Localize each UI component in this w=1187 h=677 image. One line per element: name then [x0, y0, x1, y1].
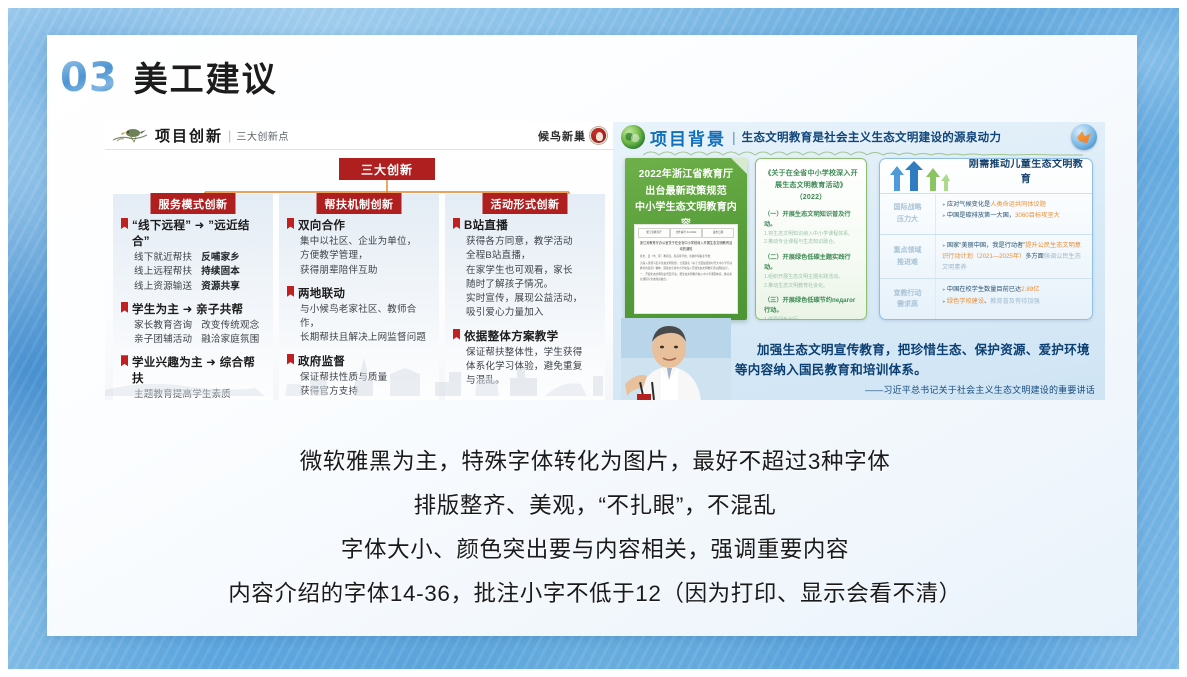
group-head: 学生为主 ➜ 亲子共帮: [121, 301, 265, 317]
line-right: 改变传统观念: [201, 319, 259, 333]
group-head-text: “线下远程” ➜ ”远近结合”: [132, 217, 265, 249]
group-head-text: 学生为主 ➜ 亲子共帮: [132, 301, 243, 317]
doc-tab: 发布日期: [702, 228, 734, 238]
group-lines: 家长教育咨询改变传统观念 亲子团辅活动融洽家庭氛围: [121, 319, 265, 348]
line: 全程B站直播，: [466, 249, 597, 263]
row-label-line: 需求高: [897, 299, 918, 311]
leaf-wave-divider: [643, 149, 1083, 157]
green-card-text: 2022年浙江省教育厅 出台最新政策规范 中小学生态文明教育内容: [625, 158, 747, 233]
doc-tab: 浙江省教育厅: [638, 228, 670, 238]
doc-tab: 文件编号 ZJ-2022: [670, 228, 702, 238]
group: “线下远程” ➜ ”远近结合” 线下就近帮扶反哺家乡 线上远程帮扶持续固本 线上…: [121, 217, 265, 294]
note-line: 字体大小、颜色突出要与内容相关，强调重要内容: [70, 528, 1120, 572]
section-line: 1.倡导绿色出行。: [764, 316, 858, 320]
row-label-line: 压力大: [897, 214, 918, 226]
blue-card-title: 刚需推动儿童生态文明教育: [968, 158, 1084, 191]
section-head: （一）开展生态文明知识普及行动。: [764, 210, 858, 230]
row-label: 国际战略 压力大: [880, 194, 936, 234]
note-line: 排版整齐、美观，“不扎眼”，不混乱: [70, 484, 1120, 528]
line-left: 线上资源输送: [134, 280, 192, 294]
left-panel-brand: 候鸟新巢: [538, 127, 607, 144]
notes-block: 微软雅黑为主，特殊字体转化为图片，最好不超过3种字体 排版整齐、美观，“不扎眼”…: [70, 440, 1120, 616]
group-lines: 线下就近帮扶反哺家乡 线上远程帮扶持续固本 线上资源输送资源共享: [121, 251, 265, 294]
section-head: （三）开展绿色低碳节约педагог行动。: [764, 296, 858, 316]
bookmark-icon: [121, 218, 128, 229]
quote-block: 加强生态文明宣传教育，把珍惜生态、保护资源、爱护环境等内容纳入国民教育和培训体系…: [735, 340, 1095, 397]
group: 学生为主 ➜ 亲子共帮 家长教育咨询改变传统观念 亲子团辅活动融洽家庭氛围: [121, 301, 265, 348]
group: 双向合作 集中以社区、企业为单位， 方便教学管理， 获得朋辈陪伴互助: [287, 217, 431, 278]
white-card-section: （二）开展绿色低碳主题实践行动。 1.组织开展生态文明主题实践活动。 2.推动生…: [764, 253, 858, 290]
row-item: 中国在校学生数量目前已达2.89亿: [942, 284, 1086, 295]
section-line: 2.推动专业课程与生态知识融合。: [764, 238, 858, 247]
line-left: 线上远程帮扶: [134, 265, 192, 279]
right-panel-header: 项目背景 | 生态文明教育是社会主义生态文明建设的源泉动力: [613, 122, 1105, 152]
group-lines: 与小候鸟老家社区、教师合作， 长期帮扶且解决上网监督问题: [287, 303, 431, 346]
doc-title: 浙江省教育厅办公室关于在全省中小学校深入开展生态文明教育活动的通知: [639, 241, 733, 252]
left-slide-image: 项目创新 | 三大创新点 候鸟新巢 三大创新 服务模式创新 “线下远程” ➜ ”…: [105, 122, 613, 400]
bookmark-icon: [287, 218, 294, 229]
line: 线下就近帮扶反哺家乡: [134, 251, 265, 265]
white-card-section: （三）开展绿色低碳节约педагог行动。 1.倡导绿色出行。: [764, 296, 858, 320]
line: 线上资源输送资源共享: [134, 280, 265, 294]
group-lines: 集中以社区、企业为单位， 方便教学管理， 获得朋辈陪伴互助: [287, 235, 431, 278]
line-right: 融洽家庭氛围: [201, 333, 259, 347]
blue-card-row: 宣教行动 需求高 中国在校学生数量目前已达2.89亿 绿色学校建设、教育普及有待…: [880, 278, 1092, 319]
row-label-line: 重点领域: [894, 245, 922, 257]
note-line: 内容介绍的字体14-36，批注小字不低于12（因为打印、显示会看不清）: [70, 572, 1120, 616]
line-left: 家长教育咨询: [134, 319, 192, 333]
group-head-text: 双向合作: [298, 217, 345, 233]
group-lines: 获得各方同意，教学活动 全程B站直播， 在家学生也可观看，家长 随时了解孩子情况…: [453, 235, 597, 321]
left-panel-header: 项目创新 | 三大创新点 候鸟新巢: [105, 122, 613, 150]
right-panel-title: 项目背景: [650, 125, 726, 150]
white-card-title: 《关于在全省中小学校深入开展生态文明教育活动》（2022）: [764, 168, 858, 204]
row-item: 绿色学校建设、教育普及有待加强: [942, 296, 1086, 307]
white-card-section: （一）开展生态文明知识普及行动。 1.将生态文明知识纳入中小学课程体系。 2.推…: [764, 210, 858, 247]
doc-paragraph: 为深入贯彻习近平生态文明思想，全面落实《关于全面加强新时代大中小学劳动教育的意见…: [640, 262, 732, 272]
demand-blue-card: 刚需推动儿童生态文明教育 国际战略 压力大 应对气候变化是人类命运共同体议题 中…: [879, 158, 1093, 320]
bookmark-icon: [453, 218, 460, 229]
group-head: B站直播: [453, 217, 597, 233]
diagram-root-node: 三大创新: [339, 158, 435, 180]
group-head-text: 两地联动: [298, 285, 345, 301]
line-right: 反哺家乡: [201, 251, 240, 265]
group-head-text: 依据整体方案教学: [464, 328, 558, 344]
bookmark-icon: [453, 329, 460, 340]
quote-source: ——习近平总书记关于社会主义生态文明建设的重要讲话: [735, 383, 1095, 396]
line: 实时宣传，展现公益活动，: [466, 292, 597, 306]
row-label: 重点领域 推进难: [880, 235, 936, 278]
row-label-line: 推进难: [897, 257, 918, 269]
row-content: 中国在校学生数量目前已达2.89亿 绿色学校建设、教育普及有待加强: [936, 279, 1092, 319]
row-label: 宣教行动 需求高: [880, 279, 936, 319]
left-panel-divider: |: [228, 128, 231, 143]
line: 随时了解孩子情况。: [466, 278, 597, 292]
column-tag: 服务模式创新: [151, 193, 236, 214]
line-left: 亲子团辅活动: [134, 333, 192, 347]
line: 在家学生也可观看，家长: [466, 264, 597, 278]
row-item: 应对气候变化是人类命运共同体议题: [942, 199, 1086, 210]
row-content: 应对气候变化是人类命运共同体议题 中国是碳排放第一大国，3060目标攻坚大: [936, 194, 1092, 234]
line: 与小候鸟老家社区、教师合作，: [300, 303, 431, 332]
line-right: 资源共享: [201, 280, 240, 294]
blue-circle-bird-logo: [1071, 124, 1097, 150]
line: 吸引爱心力量加入: [466, 306, 597, 320]
left-panel-subtitle: 三大创新点: [236, 128, 289, 143]
growth-arrows-icon: [888, 161, 950, 191]
policy-document-thumbnail: 浙江省教育厅 文件编号 ZJ-2022 发布日期 浙江省教育厅办公室关于在全省中…: [634, 224, 738, 314]
line: 方便教学管理，: [300, 249, 431, 263]
row-label-line: 国际战略: [894, 202, 922, 214]
right-panel-divider: |: [732, 129, 736, 145]
doc-paragraph: 各市、县（市、区）教育局，各高等学校，省属中等职业学校：: [640, 255, 732, 260]
city-skyline-watermark: [105, 350, 613, 396]
left-panel-title: 项目创新: [155, 125, 223, 146]
blue-card-row: 重点领域 推进难 国家“美丽中国，我是行动者”提升公民生态文明意识行动计划（20…: [880, 234, 1092, 278]
green-card-line: 出台最新政策规范: [631, 184, 741, 201]
group-head: “线下远程” ➜ ”远近结合”: [121, 217, 265, 249]
column-tag: 活动形式创新: [483, 193, 568, 214]
green-card-line: 2022年浙江省教育厅: [631, 167, 741, 184]
group-head: 依据整体方案教学: [453, 328, 597, 344]
section-head: （二）开展绿色低碳主题实践行动。: [764, 253, 858, 273]
section-number: 03: [60, 55, 118, 101]
line-left: 线下就近帮扶: [134, 251, 192, 265]
quote-text: 加强生态文明宣传教育，把珍惜生态、保护资源、爱护环境等内容纳入国民教育和培训体系…: [735, 340, 1095, 381]
brand-text: 候鸟新巢: [538, 128, 586, 144]
section-title: 美工建议: [134, 52, 278, 101]
group-head: 两地联动: [287, 285, 431, 301]
line: 线上远程帮扶持续固本: [134, 265, 265, 279]
bookmark-icon: [121, 302, 128, 313]
embedded-images-strip: 项目创新 | 三大创新点 候鸟新巢 三大创新 服务模式创新 “线下远程” ➜ ”…: [105, 122, 1105, 400]
line: 长期帮扶且解决上网监督问题: [300, 331, 431, 345]
right-slide-image: 项目背景 | 生态文明教育是社会主义生态文明建设的源泉动力 2022年浙江省教育…: [613, 122, 1105, 400]
section-line: 1.组织开展生态文明主题实践活动。: [764, 273, 858, 282]
blue-card-row: 国际战略 压力大 应对气候变化是人类命运共同体议题 中国是碳排放第一大国，306…: [880, 193, 1092, 234]
group: 两地联动 与小候鸟老家社区、教师合作， 长期帮扶且解决上网监督问题: [287, 285, 431, 346]
section-line: 2.推动生态文明教育社会化。: [764, 282, 858, 291]
row-label-line: 宣教行动: [894, 288, 922, 300]
line-right: 持续固本: [201, 265, 240, 279]
policy-green-card: 2022年浙江省教育厅 出台最新政策规范 中小学生态文明教育内容 浙江省教育厅 …: [625, 158, 747, 320]
group: B站直播 获得各方同意，教学活动 全程B站直播， 在家学生也可观看，家长 随时了…: [453, 217, 597, 321]
right-panel-subtitle: 生态文明教育是社会主义生态文明建设的源泉动力: [742, 129, 1002, 145]
speaker-photo: [621, 318, 731, 400]
note-line: 微软雅黑为主，特殊字体转化为图片，最好不超过3种字体: [70, 440, 1120, 484]
row-item: 国家“美丽中国，我是行动者”提升公民生态文明意识行动计划（2021—2025年）…: [942, 240, 1086, 273]
policy-white-card: 《关于在全省中小学校深入开展生态文明教育活动》（2022） （一）开展生态文明知…: [755, 158, 867, 320]
line: 集中以社区、企业为单位，: [300, 235, 431, 249]
group-head: 双向合作: [287, 217, 431, 233]
doc-header-table: 浙江省教育厅 文件编号 ZJ-2022 发布日期: [638, 228, 734, 238]
bookmark-icon: [287, 286, 294, 297]
blue-card-header: 刚需推动儿童生态文明教育: [880, 159, 1092, 193]
column-tag: 帮扶机制创新: [317, 193, 402, 214]
red-seal-icon: [590, 127, 607, 144]
row-content: 国家“美丽中国，我是行动者”提升公民生态文明意识行动计划（2021—2025年）…: [936, 235, 1092, 278]
line: 家长教育咨询改变传统观念: [134, 319, 265, 333]
group-head-text: B站直播: [464, 217, 508, 233]
row-item: 中国是碳排放第一大国，3060目标攻坚大: [942, 210, 1086, 221]
line: 获得朋辈陪伴互助: [300, 264, 431, 278]
bird-branch-icon: [111, 126, 151, 146]
doc-paragraph: 一、开展生态文明知识普及行动。把生态文明教育纳入中小学课程体系，推动专业课程与生…: [640, 273, 732, 283]
section-line: 1.将生态文明知识纳入中小学课程体系。: [764, 230, 858, 239]
green-globe-icon: [621, 125, 645, 149]
page-title: 03 美工建议: [60, 52, 278, 101]
line: 亲子团辅活动融洽家庭氛围: [134, 333, 265, 347]
line: 获得各方同意，教学活动: [466, 235, 597, 249]
